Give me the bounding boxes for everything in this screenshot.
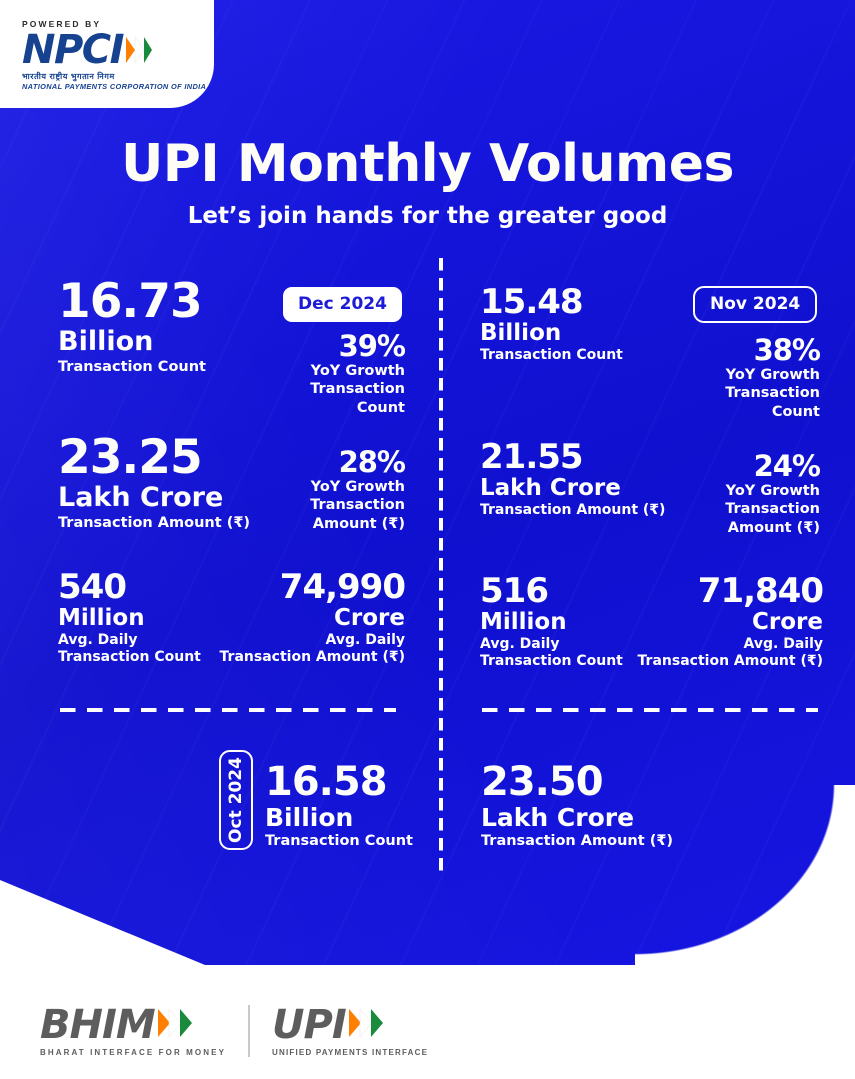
stat-unit: Lakh Crore: [480, 475, 665, 502]
stat-oct-transaction-count: 16.58 Billion Transaction Count: [265, 762, 413, 850]
stat-label: Transaction Count: [58, 358, 206, 376]
stat-value: 540: [58, 570, 201, 605]
npci-hindi-name: भारतीय राष्ट्रीय भुगतान निगम: [22, 71, 115, 82]
stat-nov-transaction-amount: 21.55 Lakh Crore Transaction Amount (₹): [480, 440, 665, 519]
month-badge-dec: Dec 2024: [283, 287, 402, 322]
stat-unit: Billion: [480, 320, 623, 347]
footer-divider: [248, 1005, 250, 1057]
stat-unit: Lakh Crore: [58, 482, 250, 514]
stat-unit: Billion: [58, 326, 206, 358]
stat-dec-transaction-amount: 23.25 Lakh Crore Transaction Amount (₹): [58, 434, 250, 532]
upi-tricolor-arrow-icon: [349, 1006, 383, 1045]
stat-value: 23.50: [481, 762, 673, 803]
stat-nov-yoy-transaction-amount: 24% YoY Growth Transaction Amount (₹): [680, 452, 820, 538]
stat-label-line1: Avg. Daily: [58, 632, 201, 650]
stat-label-line1: Avg. Daily: [480, 636, 623, 654]
bhim-tricolor-arrow-icon: [158, 1006, 192, 1045]
stat-value: 516: [480, 574, 623, 609]
stat-unit: Lakh Crore: [481, 803, 673, 833]
stat-dec-yoy-transaction-amount: 28% YoY Growth Transaction Amount (₹): [265, 448, 405, 534]
stat-value: 21.55: [480, 440, 665, 475]
bhim-logo: BHIM BHARAT INTERFACE FOR MONEY: [40, 1005, 226, 1057]
bhim-tagline: BHARAT INTERFACE FOR MONEY: [40, 1048, 226, 1057]
stat-dec-avg-daily-transaction-amount: 74,990 Crore Avg. Daily Transaction Amou…: [200, 570, 405, 667]
upi-wordmark: UPI: [272, 1005, 346, 1045]
stat-value: 28%: [265, 448, 405, 478]
bhim-wordmark: BHIM: [40, 1005, 155, 1045]
stat-label-line1: YoY Growth: [265, 478, 405, 497]
stat-nov-transaction-count: 15.48 Billion Transaction Count: [480, 285, 623, 364]
stat-label: Transaction Count: [480, 347, 623, 365]
tricolor-arrow-icon: [126, 35, 152, 65]
stat-value: 71,840: [618, 574, 823, 609]
horizontal-dashed-divider-left: [60, 708, 396, 712]
stat-dec-avg-daily-transaction-count: 540 Million Avg. Daily Transaction Count: [58, 570, 201, 667]
npci-full-name: NATIONAL PAYMENTS CORPORATION OF INDIA: [22, 82, 206, 91]
stat-label-line1: YoY Growth: [265, 362, 405, 381]
upi-logo: UPI UNIFIED PAYMENTS INTERFACE: [272, 1005, 428, 1057]
horizontal-dashed-divider-right: [482, 708, 818, 712]
stat-label-line2: Transaction Amount (₹): [200, 649, 405, 667]
stat-label-line2: Transaction: [265, 380, 405, 399]
stat-value: 74,990: [200, 570, 405, 605]
footer-logos: BHIM BHARAT INTERFACE FOR MONEY UPI: [40, 1005, 428, 1057]
stat-dec-transaction-count: 16.73 Billion Transaction Count: [58, 278, 206, 376]
page-title: UPI Monthly Volumes: [0, 134, 855, 194]
stat-unit: Crore: [618, 609, 823, 636]
upi-tagline: UNIFIED PAYMENTS INTERFACE: [272, 1048, 428, 1057]
stat-label-line2: Transaction: [265, 496, 405, 515]
stat-label-line3: Amount (₹): [680, 519, 820, 538]
stat-label-line1: Avg. Daily: [618, 636, 823, 654]
month-badge-oct-label: Oct 2024: [226, 757, 246, 843]
stat-unit: Million: [480, 609, 623, 636]
stat-value: 15.48: [480, 285, 623, 320]
npci-wordmark: NPCI: [22, 30, 123, 70]
stat-value: 24%: [680, 452, 820, 482]
month-badge-nov: Nov 2024: [693, 286, 817, 323]
stat-value: 16.58: [265, 762, 413, 803]
stat-label: Transaction Count: [265, 832, 413, 850]
stat-label-line2: Transaction Count: [58, 649, 201, 667]
stat-label-line1: YoY Growth: [680, 366, 820, 385]
vertical-dashed-divider: [439, 258, 443, 878]
stat-unit: Million: [58, 605, 201, 632]
stat-label: Transaction Amount (₹): [481, 832, 673, 850]
stat-label: Transaction Amount (₹): [480, 502, 665, 520]
stat-unit: Billion: [265, 803, 413, 833]
stat-value: 39%: [265, 332, 405, 362]
stat-value: 16.73: [58, 278, 206, 326]
stat-label-line3: Count: [680, 403, 820, 422]
stat-label-line1: YoY Growth: [680, 482, 820, 501]
stat-label: Transaction Amount (₹): [58, 514, 250, 532]
npci-wordmark-row: NPCI: [22, 30, 152, 70]
stat-value: 38%: [680, 336, 820, 366]
stat-dec-yoy-transaction-count: 39% YoY Growth Transaction Count: [265, 332, 405, 418]
page-subtitle: Let’s join hands for the greater good: [0, 203, 855, 229]
npci-logo-card: POWERED BY NPCI भारतीय राष्ट्रीय भुगतान …: [0, 0, 214, 108]
stat-nov-avg-daily-transaction-count: 516 Million Avg. Daily Transaction Count: [480, 574, 623, 671]
stat-label-line3: Count: [265, 399, 405, 418]
stat-label-line2: Transaction Count: [480, 653, 623, 671]
infographic-page: POWERED BY NPCI भारतीय राष्ट्रीय भुगतान …: [0, 0, 855, 1079]
stat-label-line2: Transaction: [680, 500, 820, 519]
bhim-wordmark-row: BHIM: [40, 1005, 192, 1045]
stat-value: 23.25: [58, 434, 250, 482]
month-badge-oct: Oct 2024: [219, 750, 253, 850]
stat-unit: Crore: [200, 605, 405, 632]
stat-label-line3: Amount (₹): [265, 515, 405, 534]
stat-nov-yoy-transaction-count: 38% YoY Growth Transaction Count: [680, 336, 820, 422]
stat-nov-avg-daily-transaction-amount: 71,840 Crore Avg. Daily Transaction Amou…: [618, 574, 823, 671]
stat-label-line2: Transaction: [680, 384, 820, 403]
stat-label-line1: Avg. Daily: [200, 632, 405, 650]
stat-oct-transaction-amount: 23.50 Lakh Crore Transaction Amount (₹): [481, 762, 673, 850]
upi-wordmark-row: UPI: [272, 1005, 383, 1045]
stat-label-line2: Transaction Amount (₹): [618, 653, 823, 671]
